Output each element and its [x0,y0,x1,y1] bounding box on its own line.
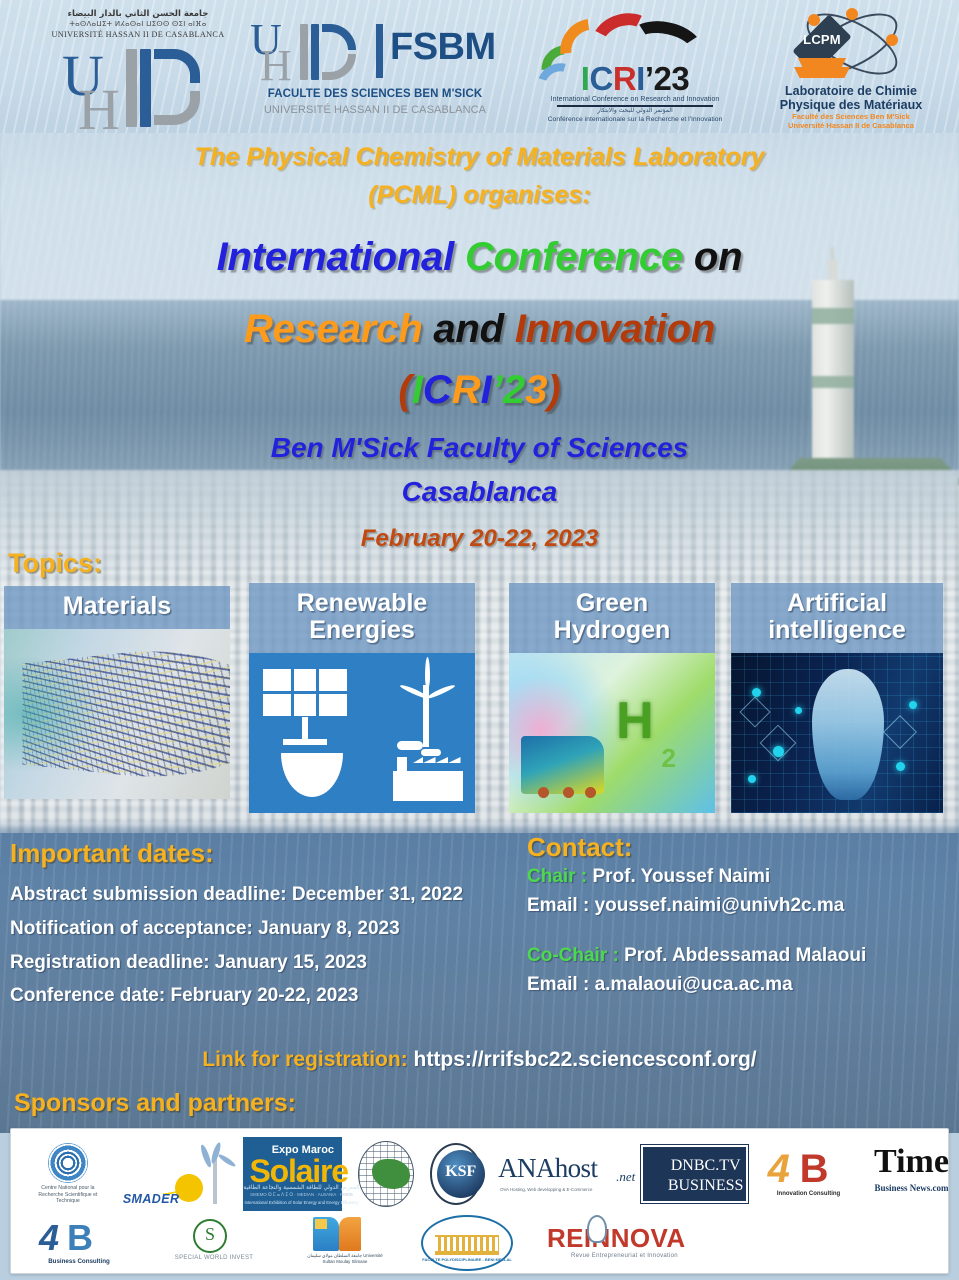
smader-wordmark: SMADER [123,1192,180,1206]
fsbm-hook-upper [322,24,356,50]
cnrst-mark-icon [48,1143,88,1183]
solaire-english: International Exhibition of Solar Energy… [243,1200,361,1205]
registration-link-line: Link for registration: https://rrifsbc22… [0,1048,959,1072]
4b-letter-icon: B [800,1147,829,1192]
solaire-expo-maroc-logo[interactable]: Expo Maroc Solaire المعرض الدولي للطاقة … [243,1137,343,1211]
wind-blade-3 [426,683,455,700]
ksf-wordmark: KSF [430,1163,492,1181]
ai-node-3 [748,775,756,783]
important-dates-heading: Important dates: [10,838,530,869]
topic-card-materials[interactable]: Materials [4,586,230,799]
word-international: International [217,235,454,279]
topics-label: Topics: [8,548,102,579]
lcpm-logo: LCPM Laboratoire de Chimie Physique des … [766,6,936,130]
anahost-logo[interactable]: ANAhost .net OVA Hosting, Web developpin… [498,1143,625,1205]
contact-heading: Contact: [527,832,957,863]
sponsors-panel: Centre National pour la Recherche Scient… [10,1128,949,1274]
4b-biz-caption: Business Consulting [33,1258,125,1265]
fsbm-wordmark: FSBM [390,26,496,69]
fsbm-hook-lower [322,54,356,80]
cnrst-logo[interactable]: Centre National pour la Recherche Scient… [35,1143,101,1205]
fsbm-logo: U H FSBM FACULTE DES SCIENCES BEN M'SICK… [250,22,500,127]
icri-subtitle-fr: Conférence internationale sur la Recherc… [535,116,735,123]
lcpm-line-3: Faculté des Sciences Ben M'Sick [766,112,936,121]
topic-card-renewable-energies[interactable]: Renewable Energies [249,583,475,813]
special-world-invest-logo[interactable]: S SPECIAL WORLD INVEST [159,1217,269,1269]
anahost-caption: OVA Hosting, Web developping & E-Commerc… [500,1187,592,1192]
topic-title-materials: Materials [4,586,230,629]
uh2c-monogram-icon: U H [62,43,217,129]
conference-dates: February 20-22, 2023 [0,525,959,553]
solar-cell-5 [294,694,316,716]
icri-subtitle-en: International Conference on Research and… [535,96,735,103]
lcpm-line-1: Laboratoire de Chimie [766,84,936,98]
conference-poster: جامعة الحسن الثاني بالدار البيضاء ⵜⴰⵙⴷⴰⵡ… [0,0,959,1280]
swi-mark: S [193,1224,227,1245]
factory-smoke-2 [421,749,441,756]
chair-line: Chair : Prof. Youssef Naimi [527,863,957,892]
uh2c-logo: جامعة الحسن الثاني بالدار البيضاء ⵜⴰⵙⴷⴰⵡ… [28,5,248,129]
hydrogen-subscript-2: 2 [661,743,675,774]
lcpm-badge-label: LCPM [794,32,850,47]
word-conference: Conference [465,235,683,279]
solar-cell-1 [263,669,291,691]
solar-cell-6 [319,694,347,716]
acronym-paren-close: ) [547,368,560,412]
factory-smoke-1 [397,741,423,750]
time-business-news-logo[interactable]: Time Business News.com [856,1143,951,1205]
lcpm-line-2: Physique des Matériaux [766,98,936,112]
uh2c-hook-lower [154,91,200,125]
cnrst-caption: Centre National pour la Recherche Scient… [35,1185,101,1205]
time-wordmark: Time [856,1143,959,1181]
word-on: on [694,235,742,279]
solar-panel-base [283,739,327,745]
hydrogen-h2-locomotive-image: H 2 [509,653,715,813]
solar-wind-factory-icon-image [249,653,475,813]
acronym-letter-c: C [423,368,452,412]
ai-node-5 [909,701,917,709]
important-dates-list: Abstract submission deadline: December 3… [10,878,530,1013]
organiser-line-1: The Physical Chemistry of Materials Labo… [0,138,959,176]
fsbm-divider [376,24,383,78]
registration-url[interactable]: https://rrifsbc22.sciencesconf.org/ [414,1048,757,1071]
cochair-name: Prof. Abdessamad Malaoui [624,945,866,966]
date-line-registration: Registration deadline: January 15, 2023 [10,946,530,980]
usms-caption: جامعة السلطان مولاي سليمان Université Su… [303,1253,387,1264]
topic-title-artificial-intelligence: Artificial intelligence [731,583,943,653]
title-block: The Physical Chemistry of Materials Labo… [0,138,959,553]
acronym-year-a: ’2 [492,368,525,412]
turbine-blade-3 [217,1153,236,1168]
fpbm-caption: FACULTE POLYDISCIPLINAIRE - BENI MELLAL [421,1257,513,1262]
icri-wordmark: ICRI’23 [535,60,735,98]
uh2c-bar-2 [140,49,151,127]
organiser-line-2: (PCML) organises: [0,176,959,214]
acronym-paren-open: ( [398,368,411,412]
dnbc-tv-business-logo[interactable]: DNBC.TV BUSINESS [641,1145,748,1203]
conference-acronym: (ICRI’23) [0,368,959,413]
icri-subtitle-ar: المؤتمر الدولي للبحث والابتكار [535,107,735,114]
fsbm-letter-h: H [260,44,292,88]
lightbulb-icon [587,1215,607,1243]
date-line-notification: Notification of acceptance: January 8, 2… [10,912,530,946]
solar-cell-4 [263,694,291,716]
locomotive-wheel-2 [563,787,574,798]
contact-spacer [527,920,957,942]
dnbc-line-2: BUSINESS [643,1177,769,1195]
header-logo-bar: جامعة الحسن الثاني بالدار البيضاء ⵜⴰⵙⴷⴰⵡ… [0,0,959,133]
ksf-logo[interactable]: KSF [430,1143,482,1205]
fsbm-bar-1 [300,24,308,80]
cochair-email[interactable]: Email : a.malaoui@uca.ac.ma [527,971,957,1000]
factory-roof [413,757,463,763]
sponsors-row-2: 4 B Business Consulting S SPECIAL WORLD … [11,1213,950,1273]
date-line-conference: Conference date: February 20-22, 2023 [10,979,530,1013]
4b-numeral-icon: 4 [768,1147,790,1192]
uh2c-bar-1 [126,49,137,127]
sponsors-row-1: Centre National pour la Recherche Scient… [11,1133,950,1215]
usms-shape-orange [339,1217,361,1251]
ai-node-6 [896,762,905,771]
locomotive-wheel-3 [585,787,596,798]
ai-face-silhouette [812,669,884,800]
fsbm-university-line: UNIVERSITÉ HASSAN II DE CASABLANCA [250,104,500,116]
lcpm-book-bottom [794,67,850,78]
conference-title-line-1: International Conference on [0,228,959,286]
4b-innovation-consulting-logo[interactable]: 4 B Innovation Consulting [764,1143,840,1205]
wscy-globe-logo[interactable] [358,1141,414,1207]
reinnova-wordmark: REINNOVA [547,1223,686,1254]
fsbm-faculty-line: FACULTE DES SCIENCES BEN M'SICK [250,88,500,100]
swi-caption: SPECIAL WORLD INVEST [159,1255,269,1261]
factory-base [393,771,463,801]
uh2c-tifinagh-text: ⵜⴰⵙⴷⴰⵡⵉⵜ ⵍⵃⴰⵙⴰⵏ ⵡⵉⵙⵙ ⵙⵉⵏ ⴰⵏⴼⴰ [28,20,248,28]
ai-diamond-1 [739,696,770,727]
water-drop-icon [281,753,343,797]
cochair-line: Co-Chair : Prof. Abdessamad Malaoui [527,942,957,971]
time-caption: Business News.com [856,1183,959,1193]
acronym-letter-r: R [452,368,481,412]
sponsors-heading: Sponsors and partners: [14,1089,296,1118]
chair-role-label: Chair : [527,866,587,887]
icri23-logo: ICRI’23 International Conference on Rese… [535,12,735,130]
hydrogen-locomotive [521,736,603,794]
faculte-polydisciplinaire-beni-mellal-logo[interactable]: FACULTE POLYDISCIPLINAIRE - BENI MELLAL [421,1215,513,1271]
acronym-letter-i2: I [481,368,492,412]
atom-dot-2 [846,8,858,20]
nanotube-lattice-image [4,629,230,799]
solaire-arabic-2: SMEMO ⵙ ⵎ ⴰ ⴷ ⵉ ⵔ · MEDIAN · ALBANIA · P… [243,1192,361,1198]
4b-caption: Innovation Consulting [764,1191,854,1197]
4b-business-consulting-logo[interactable]: 4 B Business Consulting [33,1215,125,1271]
ai-diamond-2 [760,724,797,761]
acronym-letter-i1: I [412,368,423,412]
reinnova-logo[interactable]: REINNOVA Revue Entrepreneuriat et Innova… [547,1215,707,1271]
hydrogen-letter-h: H [616,691,654,751]
topic-title-green-hydrogen: Green Hydrogen [509,583,715,653]
contact-block: Contact: Chair : Prof. Youssef Naimi Ema… [527,832,957,999]
important-dates-block: Important dates: Abstract submission dea… [10,838,530,1013]
ai-diamond-3 [883,715,917,749]
word-research: Research [244,307,423,351]
anahost-suffix: .net [616,1169,635,1185]
smader-logo[interactable]: SMADER [117,1138,227,1210]
venue-line-2: Casablanca [0,471,959,513]
topic-card-green-hydrogen[interactable]: Green Hydrogen H 2 [509,583,715,813]
fpbm-windows [435,1237,499,1251]
venue-line-1: Ben M'Sick Faculty of Sciences [0,427,959,469]
wind-blade-1 [425,657,430,689]
solaire-arabic: المعرض الدولي للطاقة الشمسية والنجاعة ال… [243,1185,361,1191]
ai-node-4 [795,707,802,714]
uh2c-letter-h: H [78,81,120,139]
locomotive-wheel-1 [538,787,549,798]
word-innovation: Innovation [515,307,715,351]
atom-dot-3 [886,34,898,46]
factory-chimney [397,757,407,775]
topic-title-renewable-energies: Renewable Energies [249,583,475,653]
fsbm-monogram-icon: U H [250,22,370,84]
anahost-wordmark: ANAhost [498,1153,597,1184]
solar-panel-stem [302,717,308,741]
date-line-abstract: Abstract submission deadline: December 3… [10,878,530,912]
4b-biz-numeral-icon: 4 [39,1217,59,1259]
cochair-role-label: Co-Chair : [527,945,619,966]
uh2c-hook-upper [154,49,200,83]
conference-title-line-2: Research and Innovation [0,300,959,358]
dnbc-line-1: DNBC.TV [643,1157,769,1175]
chair-email[interactable]: Email : youssef.naimi@univh2c.ma [527,892,957,921]
topic-card-artificial-intelligence[interactable]: Artificial intelligence [731,583,943,813]
solar-cell-2 [294,669,316,691]
solar-cell-3 [319,669,347,691]
uh2c-arabic-text: جامعة الحسن الثاني بالدار البيضاء [28,9,248,19]
usms-logo[interactable]: جامعة السلطان مولاي سليمان Université Su… [303,1215,387,1271]
4b-biz-letter-icon: B [67,1217,93,1259]
registration-label: Link for registration: [202,1048,407,1071]
chair-name: Prof. Youssef Naimi [592,866,770,887]
acronym-year-b: 3 [525,368,547,412]
usms-shape-accent [315,1219,327,1229]
uh2c-latin-text: UNIVERSITÉ HASSAN II DE CASABLANCA [28,30,248,39]
word-and: and [433,307,504,351]
reinnova-caption: Revue Entrepreneuriat et Innovation [571,1253,678,1259]
lcpm-line-4: Université Hassan II de Casablanca [766,121,936,130]
ai-face-circuit-image [731,653,943,813]
ai-node-1 [752,688,761,697]
fsbm-bar-2 [311,24,319,80]
